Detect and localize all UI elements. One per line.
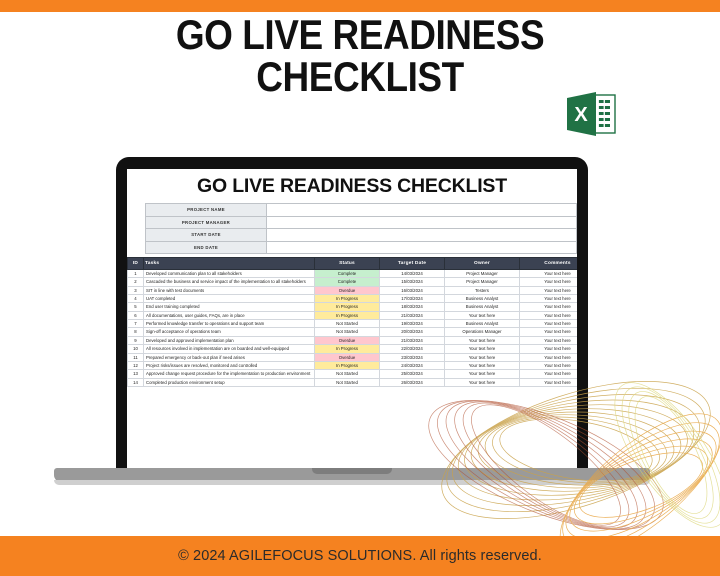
column-header-tasks[interactable]: Tasks	[144, 258, 315, 270]
cell-id[interactable]: 2	[128, 278, 144, 286]
cell-task[interactable]: Cascaded the business and service impact…	[144, 278, 315, 286]
cell-id[interactable]: 5	[128, 303, 144, 311]
cell-comment[interactable]: Your text here	[520, 370, 578, 378]
cell-task[interactable]: SIT in line with test documents	[144, 286, 315, 294]
cell-target-date[interactable]: 21/03/2024	[380, 336, 445, 344]
cell-task[interactable]: Completed production environment setup	[144, 378, 315, 386]
cell-target-date[interactable]: 26/03/2024	[380, 378, 445, 386]
spreadsheet-title: GO LIVE READINESS CHECKLIST	[127, 169, 577, 203]
cell-owner[interactable]: Your text here	[445, 345, 520, 353]
cell-owner[interactable]: Your text here	[445, 378, 520, 386]
cell-status[interactable]: Complete	[315, 269, 380, 277]
cell-status[interactable]: In Progress	[315, 303, 380, 311]
cell-owner[interactable]: Your text here	[445, 353, 520, 361]
table-row[interactable]: 14Completed production environment setup…	[128, 378, 578, 386]
table-row[interactable]: 11Prepared emergency or back-out plan if…	[128, 353, 578, 361]
meta-value-project-manager[interactable]	[267, 216, 577, 229]
meta-label-start-date: START DATE	[146, 229, 267, 242]
cell-comment[interactable]: Your text here	[520, 311, 578, 319]
cell-comment[interactable]: Your text here	[520, 361, 578, 369]
laptop-mockup: GO LIVE READINESS CHECKLIST PROJECT NAME…	[116, 157, 588, 487]
cell-status[interactable]: Not Started	[315, 328, 380, 336]
meta-row: START DATE	[127, 229, 577, 242]
cell-comment[interactable]: Your text here	[520, 295, 578, 303]
cell-task[interactable]: End user training completed	[144, 303, 315, 311]
cell-target-date[interactable]: 17/03/2024	[380, 295, 445, 303]
cell-comment[interactable]: Your text here	[520, 303, 578, 311]
cell-id[interactable]: 11	[128, 353, 144, 361]
cell-id[interactable]: 6	[128, 311, 144, 319]
cell-owner[interactable]: Your text here	[445, 311, 520, 319]
project-meta-body: PROJECT NAME PROJECT MANAGER START DATE	[127, 204, 577, 254]
meta-pad	[127, 241, 146, 254]
cell-status[interactable]: Overdue	[315, 336, 380, 344]
table-row[interactable]: 7Performed knowledge transfer to operati…	[128, 320, 578, 328]
cell-owner[interactable]: Operations Manager	[445, 328, 520, 336]
copyright-text: © 2024 AGILEFOCUS SOLUTIONS. All rights …	[178, 548, 542, 564]
cell-id[interactable]: 4	[128, 295, 144, 303]
cell-comment[interactable]: Your text here	[520, 345, 578, 353]
cell-task[interactable]: Sign-off acceptance of operations team	[144, 328, 315, 336]
column-header-owner[interactable]: Owner	[445, 258, 520, 270]
cell-target-date[interactable]: 25/03/2024	[380, 370, 445, 378]
meta-label-project-manager: PROJECT MANAGER	[146, 216, 267, 229]
cell-status[interactable]: Not Started	[315, 378, 380, 386]
hero-title-line1: GO LIVE READINESS	[176, 11, 544, 58]
cell-owner[interactable]: Your text here	[445, 370, 520, 378]
laptop-base-lip	[54, 480, 650, 485]
cell-owner[interactable]: Your text here	[445, 361, 520, 369]
meta-value-start-date[interactable]	[267, 229, 577, 242]
meta-row: END DATE	[127, 241, 577, 254]
meta-label-end-date: END DATE	[146, 241, 267, 254]
meta-value-end-date[interactable]	[267, 241, 577, 254]
column-header-target-date[interactable]: Target Date	[380, 258, 445, 270]
cell-owner[interactable]: Business Analyst	[445, 295, 520, 303]
cell-comment[interactable]: Your text here	[520, 286, 578, 294]
footer-bar: © 2024 AGILEFOCUS SOLUTIONS. All rights …	[0, 536, 720, 576]
cell-id[interactable]: 10	[128, 345, 144, 353]
cell-target-date[interactable]: 15/03/2024	[380, 278, 445, 286]
table-row[interactable]: 9Developed and approved implementation p…	[128, 336, 578, 344]
cell-task[interactable]: Developed communication plan to all stak…	[144, 269, 315, 277]
checklist-header-row: ID Tasks Status Target Date Owner Commen…	[128, 258, 578, 270]
table-row[interactable]: 5End user training completedIn Progress1…	[128, 303, 578, 311]
laptop-screen: GO LIVE READINESS CHECKLIST PROJECT NAME…	[127, 169, 577, 468]
project-meta-table: PROJECT NAME PROJECT MANAGER START DATE	[127, 203, 577, 254]
cell-id[interactable]: 3	[128, 286, 144, 294]
cell-target-date[interactable]: 16/03/2024	[380, 286, 445, 294]
cell-id[interactable]: 7	[128, 320, 144, 328]
cell-owner[interactable]: Business Analyst	[445, 320, 520, 328]
cell-status[interactable]: Complete	[315, 278, 380, 286]
cell-status[interactable]: In Progress	[315, 345, 380, 353]
cell-status[interactable]: Overdue	[315, 286, 380, 294]
cell-status[interactable]: In Progress	[315, 311, 380, 319]
cell-target-date[interactable]: 18/03/2024	[380, 303, 445, 311]
cell-status[interactable]: Overdue	[315, 353, 380, 361]
table-row[interactable]: 12Project risks/issues are resolved, mon…	[128, 361, 578, 369]
laptop-lid: GO LIVE READINESS CHECKLIST PROJECT NAME…	[116, 157, 588, 474]
checklist-table: ID Tasks Status Target Date Owner Commen…	[127, 257, 577, 387]
cell-comment[interactable]: Your text here	[520, 336, 578, 344]
cell-task[interactable]: Approved change request procedure for th…	[144, 370, 315, 378]
cell-id[interactable]: 14	[128, 378, 144, 386]
cell-target-date[interactable]: 20/03/2024	[380, 328, 445, 336]
cell-task[interactable]: Prepared emergency or back-out plan if n…	[144, 353, 315, 361]
meta-row: PROJECT NAME	[127, 204, 577, 217]
cell-comment[interactable]: Your text here	[520, 320, 578, 328]
cell-target-date[interactable]: 24/03/2024	[380, 361, 445, 369]
excel-icon: X	[563, 86, 619, 142]
meta-label-project-name: PROJECT NAME	[146, 204, 267, 217]
cell-target-date[interactable]: 22/03/2024	[380, 345, 445, 353]
checklist-header: ID Tasks Status Target Date Owner Commen…	[128, 258, 578, 270]
cell-task[interactable]: UAT completed	[144, 295, 315, 303]
meta-pad	[127, 216, 146, 229]
column-header-id[interactable]: ID	[128, 258, 144, 270]
column-header-status[interactable]: Status	[315, 258, 380, 270]
cell-task[interactable]: All documentations, user guides, FAQs, a…	[144, 311, 315, 319]
table-row[interactable]: 3SIT in line with test documentsOverdue1…	[128, 286, 578, 294]
cell-task[interactable]: Performed knowledge transfer to operatio…	[144, 320, 315, 328]
cell-id[interactable]: 9	[128, 336, 144, 344]
cell-id[interactable]: 12	[128, 361, 144, 369]
table-row[interactable]: 1Developed communication plan to all sta…	[128, 269, 578, 277]
cell-owner[interactable]: Testers	[445, 286, 520, 294]
cell-owner[interactable]: Your text here	[445, 336, 520, 344]
hero-heading: GO LIVE READINESS CHECKLIST	[0, 14, 720, 97]
table-row[interactable]: 2Cascaded the business and service impac…	[128, 278, 578, 286]
hero-title: GO LIVE READINESS CHECKLIST	[43, 14, 677, 97]
meta-row: PROJECT MANAGER	[127, 216, 577, 229]
meta-pad	[127, 229, 146, 242]
cell-status[interactable]: Not Started	[315, 320, 380, 328]
cell-comment[interactable]: Your text here	[520, 328, 578, 336]
cell-target-date[interactable]: 14/03/2024	[380, 269, 445, 277]
cell-owner[interactable]: Project Manager	[445, 278, 520, 286]
cell-comment[interactable]: Your text here	[520, 269, 578, 277]
cell-id[interactable]: 8	[128, 328, 144, 336]
cell-status[interactable]: Not Started	[315, 370, 380, 378]
cell-target-date[interactable]: 21/03/2024	[380, 311, 445, 319]
svg-text:X: X	[574, 104, 588, 126]
cell-owner[interactable]: Business Analyst	[445, 303, 520, 311]
cell-task[interactable]: All resources involved in implementation…	[144, 345, 315, 353]
table-row[interactable]: 10All resources involved in implementati…	[128, 345, 578, 353]
cell-task[interactable]: Project risks/issues are resolved, monit…	[144, 361, 315, 369]
cell-comment[interactable]: Your text here	[520, 278, 578, 286]
poster-canvas: GO LIVE READINESS CHECKLIST X GO L	[0, 0, 720, 576]
cell-target-date[interactable]: 23/03/2024	[380, 353, 445, 361]
cell-comment[interactable]: Your text here	[520, 378, 578, 386]
table-row[interactable]: 13Approved change request procedure for …	[128, 370, 578, 378]
table-row[interactable]: 6All documentations, user guides, FAQs, …	[128, 311, 578, 319]
meta-pad	[127, 204, 146, 217]
meta-value-project-name[interactable]	[267, 204, 577, 217]
cell-status[interactable]: In Progress	[315, 295, 380, 303]
cell-id[interactable]: 1	[128, 269, 144, 277]
table-row[interactable]: 4UAT completedIn Progress17/03/2024Busin…	[128, 295, 578, 303]
laptop-notch	[312, 468, 392, 474]
cell-id[interactable]: 13	[128, 370, 144, 378]
cell-status[interactable]: In Progress	[315, 361, 380, 369]
cell-owner[interactable]: Project Manager	[445, 269, 520, 277]
cell-target-date[interactable]: 19/03/2024	[380, 320, 445, 328]
cell-task[interactable]: Developed and approved implementation pl…	[144, 336, 315, 344]
table-row[interactable]: 8Sign-off acceptance of operations teamN…	[128, 328, 578, 336]
cell-comment[interactable]: Your text here	[520, 353, 578, 361]
spreadsheet: GO LIVE READINESS CHECKLIST PROJECT NAME…	[127, 169, 577, 468]
column-header-comments[interactable]: Comments	[520, 258, 578, 270]
checklist-body: 1Developed communication plan to all sta…	[128, 269, 578, 386]
